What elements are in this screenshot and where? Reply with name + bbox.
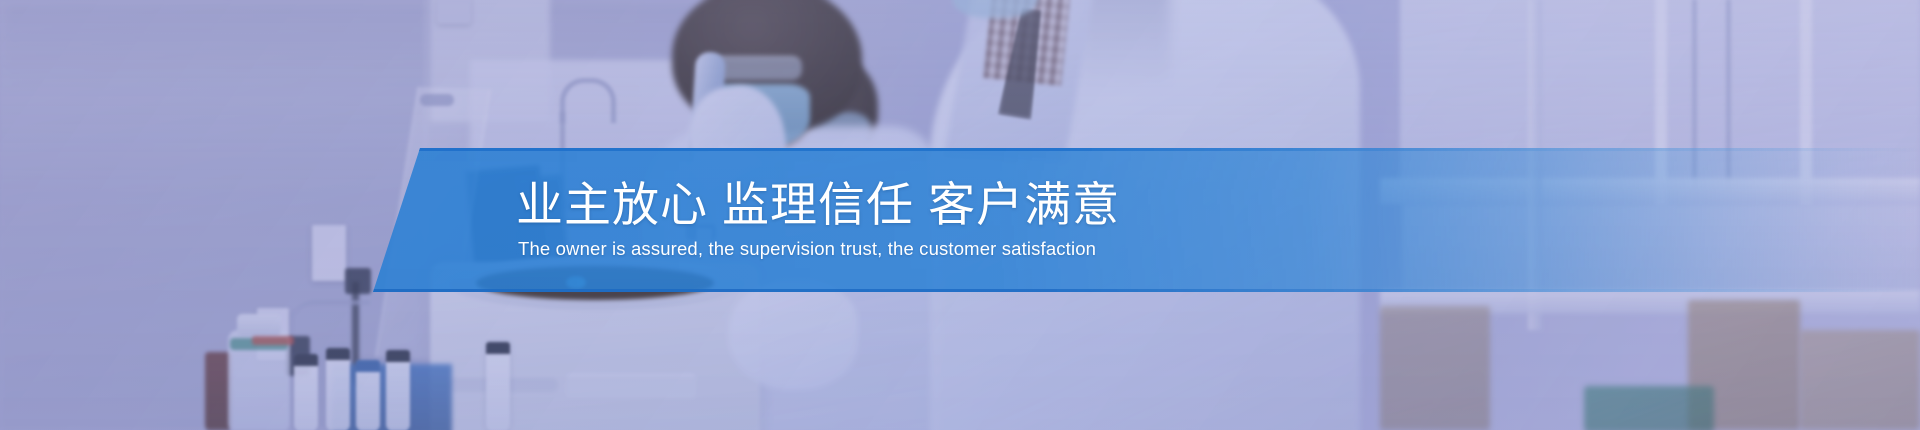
- banner-copy: 业主放心 监理信任 客户满意 The owner is assured, the…: [0, 148, 1920, 292]
- banner-subheadline: The owner is assured, the supervision tr…: [0, 238, 1920, 260]
- banner-headline: 业主放心 监理信任 客户满意: [0, 180, 1920, 231]
- hero-banner: 业主放心 监理信任 客户满意 The owner is assured, the…: [0, 0, 1920, 430]
